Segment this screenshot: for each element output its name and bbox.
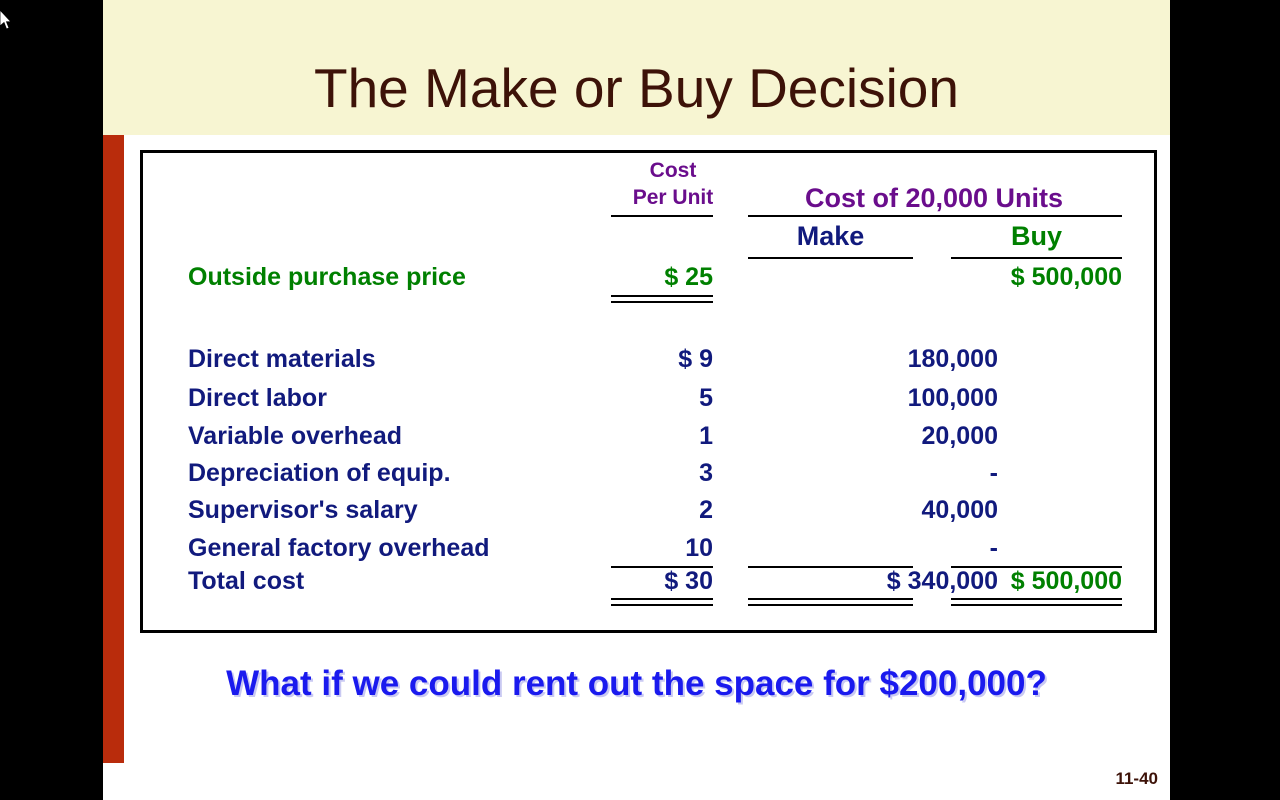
rule-total-make-under2 [748, 604, 913, 606]
row-make-variable-overhead: 20,000 [748, 422, 998, 451]
row-per-unit-general-factory-overhead: 10 [593, 534, 713, 563]
row-make-supervisors-salary: 40,000 [748, 496, 998, 525]
rule-total-per-unit-under2 [611, 604, 713, 606]
rule-per-unit-header [611, 215, 713, 217]
rule-total-buy-under1 [951, 598, 1122, 600]
row-per-unit-supervisors-salary: 2 [593, 496, 713, 525]
row-label-variable-overhead: Variable overhead [188, 422, 402, 451]
rule-make-header [748, 257, 913, 259]
row-buy-total-cost: $ 500,000 [933, 567, 1122, 596]
rule-total-per-unit-under1 [611, 598, 713, 600]
row-per-unit-total-cost: $ 30 [593, 567, 713, 596]
row-make-general-factory-overhead: - [748, 534, 998, 563]
header-make: Make [748, 221, 913, 252]
row-label-direct-materials: Direct materials [188, 345, 376, 374]
row-make-depreciation-of-equipment: - [748, 459, 998, 488]
slide-title-bar: The Make or Buy Decision [103, 0, 1170, 135]
header-buy: Buy [951, 221, 1122, 252]
row-label-direct-labor: Direct labor [188, 384, 327, 413]
rule-total-buy-under2 [951, 604, 1122, 606]
presentation-slide: The Make or Buy Decision Cost Per Unit C… [103, 0, 1170, 800]
row-per-unit-outside-purchase-price: $ 25 [593, 263, 713, 292]
rule-total-make-under1 [748, 598, 913, 600]
row-make-direct-materials: 180,000 [748, 345, 998, 374]
row-per-unit-depreciation-of-equipment: 3 [593, 459, 713, 488]
row-per-unit-direct-labor: 5 [593, 384, 713, 413]
row-label-total-cost: Total cost [188, 567, 304, 596]
rule-cost-of-units-header [748, 215, 1122, 217]
header-cost-per-unit: Per Unit [613, 186, 733, 210]
slide-number: 11-40 [1068, 769, 1158, 789]
row-label-depreciation-of-equipment: Depreciation of equip. [188, 459, 451, 488]
row-label-general-factory-overhead: General factory overhead [188, 534, 490, 563]
rule-outside-price-lower [611, 301, 713, 303]
rule-buy-header [951, 257, 1122, 259]
question-callout: What if we could rent out the space for … [103, 664, 1170, 704]
row-per-unit-variable-overhead: 1 [593, 422, 713, 451]
slide-viewer: The Make or Buy Decision Cost Per Unit C… [0, 0, 1280, 800]
cost-comparison-table: Cost Per Unit Cost of 20,000 Units Make … [140, 150, 1157, 633]
row-label-supervisors-salary: Supervisor's salary [188, 496, 418, 525]
header-cost-of-units: Cost of 20,000 Units [746, 183, 1122, 214]
row-per-unit-direct-materials: $ 9 [593, 345, 713, 374]
row-label-outside-purchase-price: Outside purchase price [188, 263, 466, 292]
row-buy-outside-purchase-price: $ 500,000 [933, 263, 1122, 292]
page-title: The Make or Buy Decision [103, 58, 1170, 118]
rule-outside-price-upper [611, 295, 713, 297]
row-make-direct-labor: 100,000 [748, 384, 998, 413]
mouse-cursor-icon [0, 10, 14, 32]
header-cost-line1: Cost [623, 159, 723, 183]
